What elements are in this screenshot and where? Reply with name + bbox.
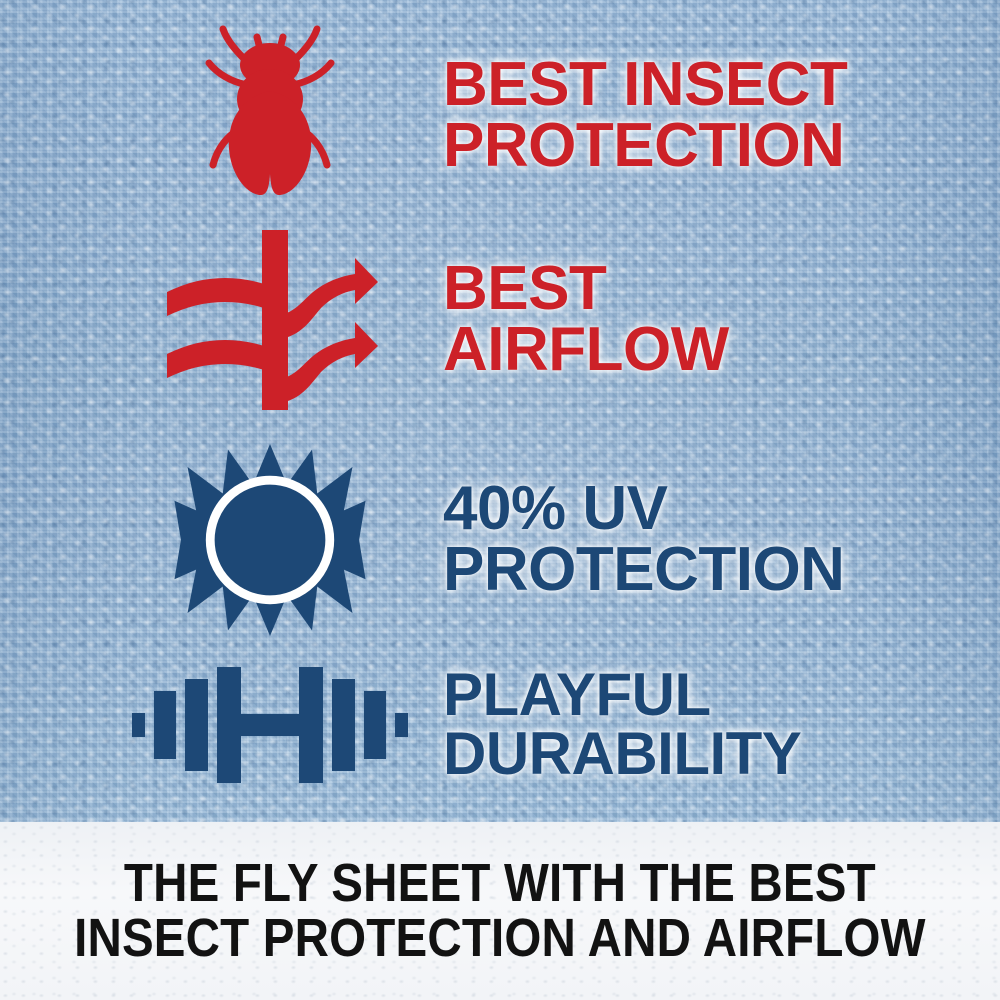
feature-icon-cell: [120, 23, 420, 208]
feature-label-airflow: BEST AIRFLOW: [443, 259, 1000, 381]
feature-row-uv-protection: 40% UV PROTECTION: [120, 440, 1000, 640]
caption-headline: THE FLY SHEET WITH THE BEST INSECT PROTE…: [74, 856, 926, 966]
feature-icon-cell: [120, 442, 420, 638]
feature-label-durability: PLAYFUL DURABILITY: [443, 666, 1000, 784]
feature-row-durability: PLAYFUL DURABILITY: [120, 650, 1000, 800]
dumbbell-icon: [132, 663, 408, 787]
product-feature-poster: BEST INSECT PROTECTION: [0, 0, 1000, 1000]
feature-icon-cell: [120, 663, 420, 787]
feature-row-airflow: BEST AIRFLOW: [120, 225, 1000, 415]
feature-icon-cell: [120, 230, 420, 410]
feature-label-uv-protection: 40% UV PROTECTION: [443, 479, 1000, 601]
feature-text-cell: BEST AIRFLOW: [420, 259, 1000, 381]
feature-row-insect-protection: BEST INSECT PROTECTION: [120, 18, 1000, 213]
caption-band: THE FLY SHEET WITH THE BEST INSECT PROTE…: [0, 822, 1000, 1000]
fly-icon: [195, 23, 345, 208]
feature-text-cell: BEST INSECT PROTECTION: [420, 55, 1000, 177]
feature-label-insect-protection: BEST INSECT PROTECTION: [443, 55, 1000, 177]
airflow-arrows-icon: [163, 230, 378, 410]
feature-text-cell: 40% UV PROTECTION: [420, 479, 1000, 601]
sun-uv-icon: [172, 442, 368, 638]
feature-text-cell: PLAYFUL DURABILITY: [420, 666, 1000, 784]
